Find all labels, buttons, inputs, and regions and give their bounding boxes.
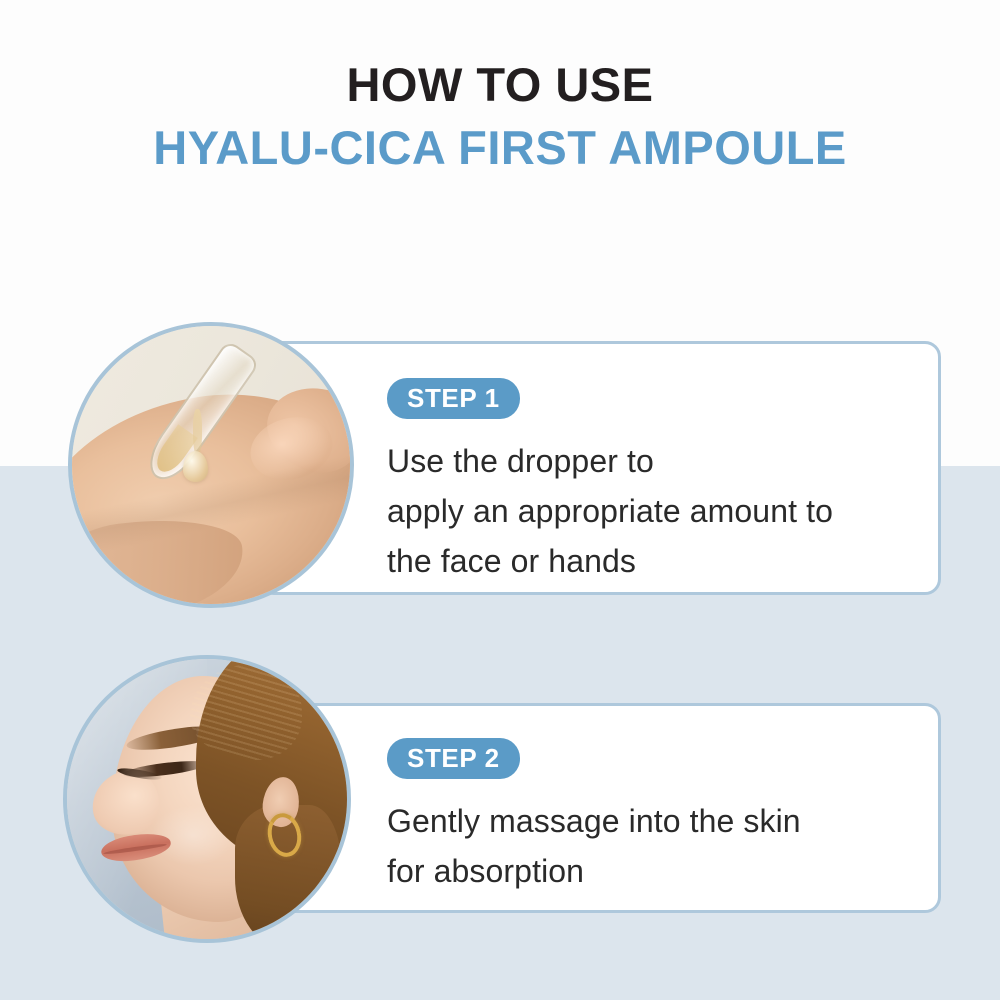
step-1-text: Use the dropper to apply an appropriate … [387,437,833,587]
step-1-text-line-2: apply an appropriate amount to [387,487,833,537]
step-2-photo [63,655,351,943]
step-1-text-line-3: the face or hands [387,537,833,587]
page-title: HOW TO USE [0,60,1000,109]
step-2-card: STEP 2 Gently massage into the skin for … [258,703,941,913]
step-2-content: STEP 2 Gently massage into the skin for … [387,738,801,897]
step-2-text-line-1: Gently massage into the skin [387,797,801,847]
step-2-text-line-2: for absorption [387,847,801,897]
page-header: HOW TO USE HYALU-CICA FIRST AMPOULE [0,60,1000,173]
step-1-text-line-1: Use the dropper to [387,437,833,487]
step-2-text: Gently massage into the skin for absorpt… [387,797,801,897]
page-root: HOW TO USE HYALU-CICA FIRST AMPOULE STEP… [0,0,1000,1000]
step-1-badge: STEP 1 [387,378,520,419]
step-1-content: STEP 1 Use the dropper to apply an appro… [387,378,833,587]
step-1-card: STEP 1 Use the dropper to apply an appro… [258,341,941,595]
step-1-photo [68,322,354,608]
hair-strands [190,665,302,760]
step-2-badge: STEP 2 [387,738,520,779]
page-subtitle: HYALU-CICA FIRST AMPOULE [0,123,1000,172]
